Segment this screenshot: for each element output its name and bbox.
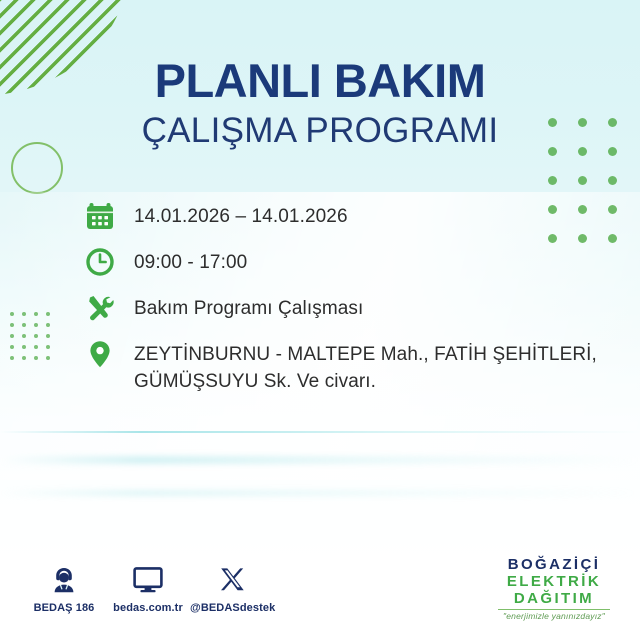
background-wave-2 xyxy=(0,456,640,464)
background-wave-1 xyxy=(0,431,640,433)
tools-icon xyxy=(84,292,116,324)
support-agent-icon xyxy=(22,563,106,597)
detail-row-work-type: Bakım Programı Çalışması xyxy=(84,292,624,324)
maintenance-details-list: 14.01.2026 – 14.01.2026 09:00 - 17:00 xyxy=(84,200,624,409)
calendar-icon xyxy=(84,200,116,232)
detail-date-text: 14.01.2026 – 14.01.2026 xyxy=(134,200,348,230)
footer-item-x-account[interactable]: @BEDASdestek xyxy=(190,563,274,614)
detail-location-text: ZEYTİNBURNU - MALTEPE Mah., FATİH ŞEHİTL… xyxy=(134,338,604,395)
background-wave-3 xyxy=(0,490,640,496)
planned-maintenance-poster: PLANLI BAKIM ÇALIŞMA PROGRAMI xyxy=(0,0,640,640)
footer-label-website: bedas.com.tr xyxy=(106,602,190,614)
footer-item-website[interactable]: bedas.com.tr xyxy=(106,563,190,614)
brand-line-bogazici: BOĞAZİÇİ xyxy=(484,556,624,573)
dot-grid-left-decoration xyxy=(10,312,58,367)
detail-time-text: 09:00 - 17:00 xyxy=(134,246,247,276)
brand-line-elektrik: ELEKTRİK xyxy=(484,573,624,590)
detail-row-location: ZEYTİNBURNU - MALTEPE Mah., FATİH ŞEHİTL… xyxy=(84,338,624,395)
brand-divider xyxy=(498,609,610,610)
headline-secondary: ÇALIŞMA PROGRAMI xyxy=(0,111,640,151)
footer-item-call-center[interactable]: BEDAŞ 186 xyxy=(22,563,106,614)
page-title: PLANLI BAKIM ÇALIŞMA PROGRAMI xyxy=(0,56,640,151)
bedas-logo: BOĞAZİÇİ ELEKTRİK DAĞITIM "enerjimizle y… xyxy=(484,556,624,622)
location-pin-icon xyxy=(84,338,116,370)
clock-icon xyxy=(84,246,116,278)
headline-primary: PLANLI BAKIM xyxy=(0,56,640,106)
x-twitter-icon xyxy=(190,563,274,597)
detail-row-time: 09:00 - 17:00 xyxy=(84,246,624,278)
footer-contact-links: BEDAŞ 186 bedas.com.tr @BEDASdestek xyxy=(22,563,274,614)
brand-line-dagitim: DAĞITIM xyxy=(484,590,624,607)
brand-tagline: "enerjimizle yanınızdayız" xyxy=(484,611,624,622)
monitor-icon xyxy=(106,563,190,597)
detail-row-date: 14.01.2026 – 14.01.2026 xyxy=(84,200,624,232)
footer-label-x-account: @BEDASdestek xyxy=(190,602,274,614)
footer-label-call-center: BEDAŞ 186 xyxy=(22,602,106,614)
detail-work-type-text: Bakım Programı Çalışması xyxy=(134,292,363,322)
